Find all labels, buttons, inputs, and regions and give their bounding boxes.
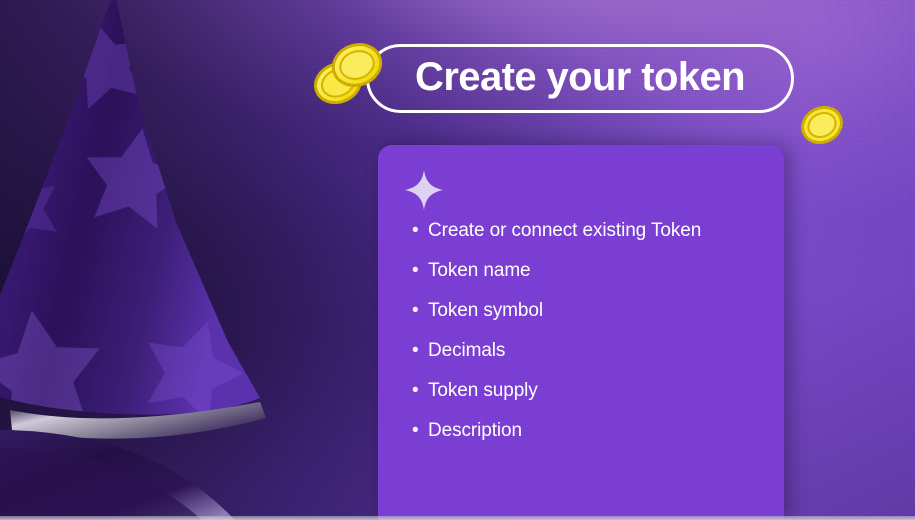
- bullet-glyph: •: [412, 341, 428, 360]
- list-item-label: Decimals: [428, 341, 505, 360]
- slide-canvas: Create your token: [0, 0, 915, 520]
- list-item: • Token symbol: [412, 301, 774, 341]
- page-title: Create your token: [415, 57, 745, 100]
- bullet-glyph: •: [412, 261, 428, 280]
- list-item: • Decimals: [412, 341, 774, 381]
- token-field-list: • Create or connect existing Token • Tok…: [412, 221, 774, 461]
- list-item-label: Create or connect existing Token: [428, 221, 701, 240]
- bullet-glyph: •: [412, 301, 428, 320]
- sparkle-star-icon: [404, 169, 444, 211]
- list-item: • Token supply: [412, 381, 774, 421]
- list-item-label: Token name: [428, 261, 531, 280]
- bullet-glyph: •: [412, 421, 428, 440]
- slide-bottom-edge: [0, 516, 915, 520]
- coin-pair-icon: [312, 33, 384, 109]
- list-item: • Description: [412, 421, 774, 461]
- content-card: • Create or connect existing Token • Tok…: [378, 145, 784, 520]
- wizard-illustration: [0, 0, 360, 520]
- list-item: • Token name: [412, 261, 774, 301]
- list-item: • Create or connect existing Token: [412, 221, 774, 261]
- list-item-label: Description: [428, 421, 522, 440]
- list-item-label: Token symbol: [428, 301, 543, 320]
- wizard-hat-cone: [0, 0, 260, 437]
- list-item-label: Token supply: [428, 381, 538, 400]
- bullet-glyph: •: [412, 381, 428, 400]
- coin-single-icon: [798, 99, 846, 151]
- bullet-glyph: •: [412, 221, 428, 240]
- page-title-pill: Create your token: [366, 44, 794, 113]
